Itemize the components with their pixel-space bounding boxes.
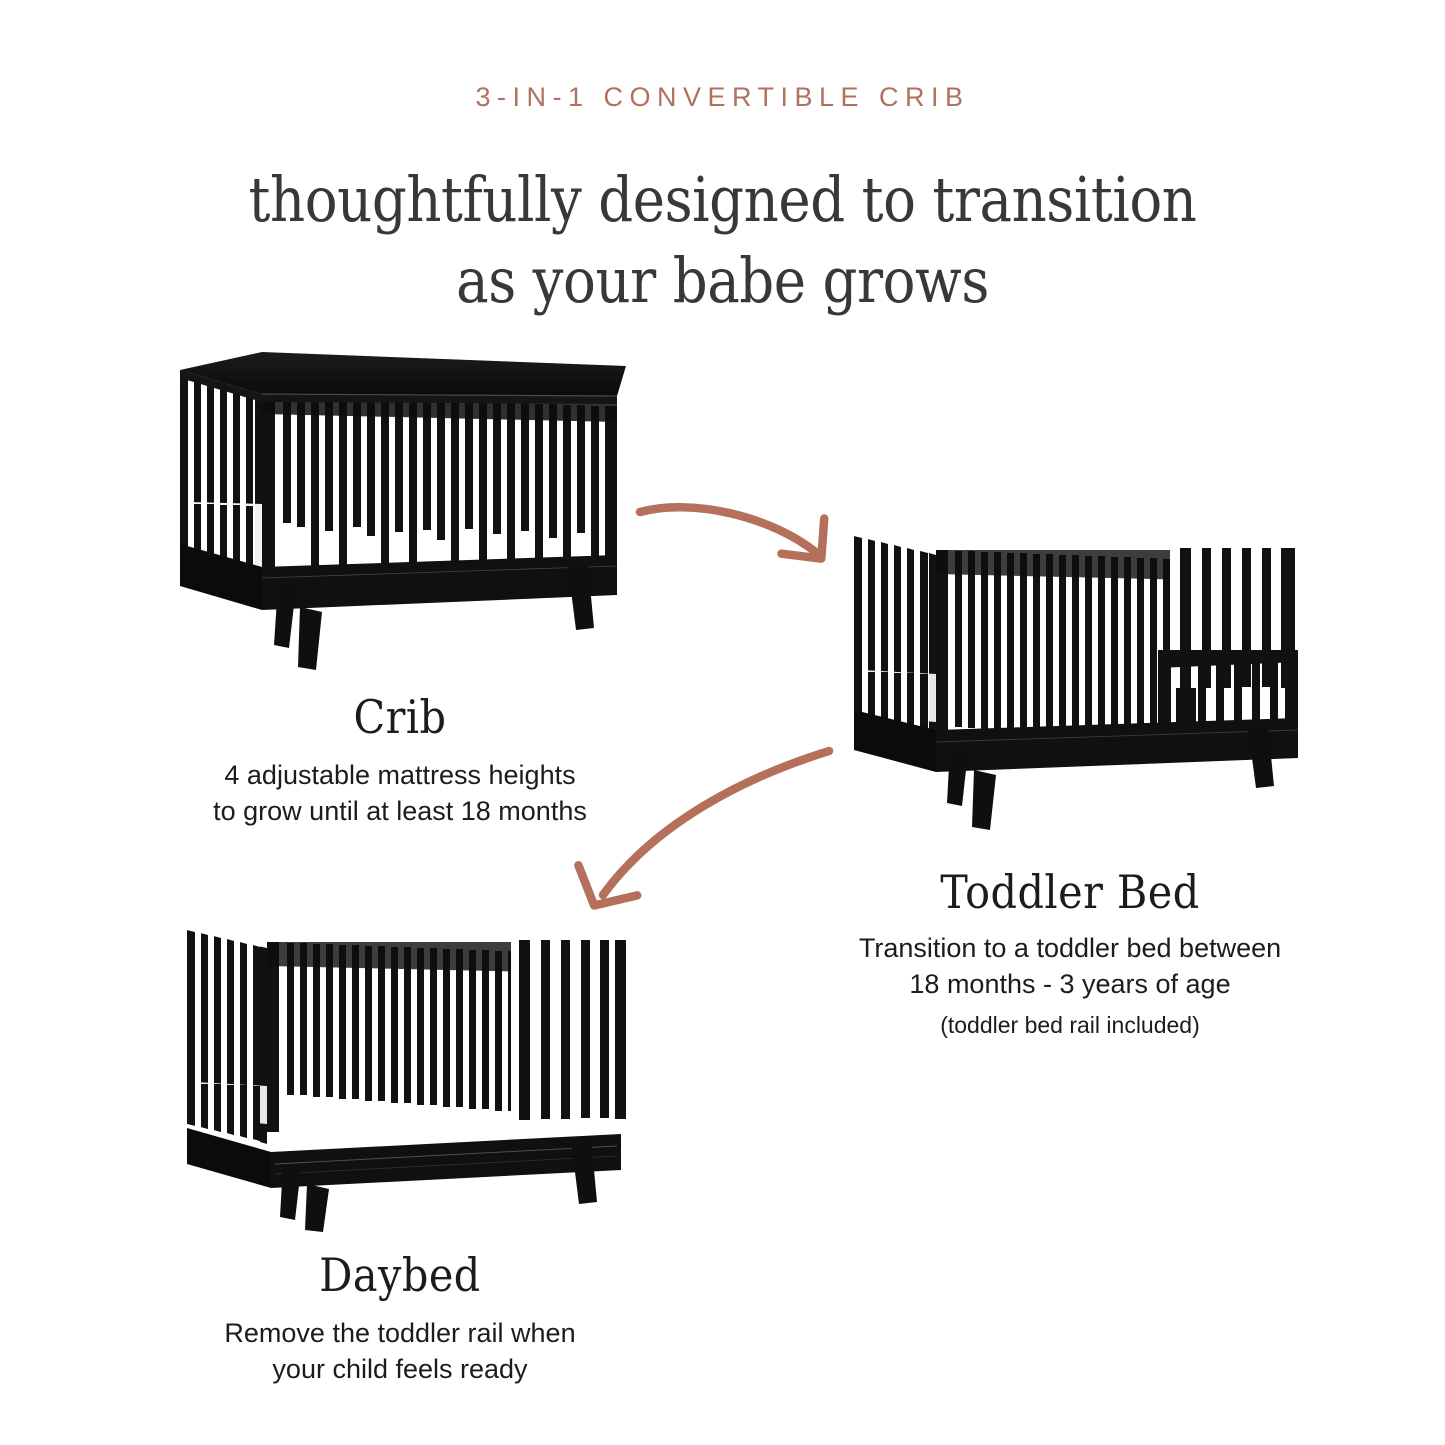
headline-line-2: as your babe grows: [87, 241, 1359, 322]
daybed-illustration: [175, 912, 630, 1232]
toddler-bed-back-slats: [936, 548, 1196, 749]
headline-line-1: thoughtfully designed to transition: [249, 163, 1197, 236]
daybed-description: Remove the toddler rail when your child …: [145, 1316, 655, 1388]
toddler-bed-description-line-1: Transition to a toddler bed between: [859, 933, 1281, 963]
crib-illustration: [170, 352, 630, 672]
daybed-description-line-1: Remove the toddler rail when: [224, 1318, 575, 1348]
toddler-bed-note: (toddler bed rail included): [790, 1011, 1350, 1041]
toddler-bed-illustration: [840, 522, 1310, 832]
toddler-bed-description: Transition to a toddler bed between 18 m…: [790, 931, 1350, 1003]
crib-top-rail: [180, 352, 626, 404]
daybed-caption-block: Daybed Remove the toddler rail when your…: [145, 1248, 655, 1388]
daybed-side-panel: [187, 930, 267, 1144]
crib-title: Crib: [166, 690, 634, 744]
toddler-bed-description-line-2: 18 months - 3 years of age: [909, 969, 1230, 999]
crib-caption-block: Crib 4 adjustable mattress heights to gr…: [140, 690, 660, 830]
daybed-description-line-2: your child feels ready: [272, 1354, 527, 1384]
daybed-far-panel: [511, 937, 627, 1120]
page-title: thoughtfully designed to transition as y…: [87, 160, 1359, 321]
eyebrow-label: 3-IN-1 CONVERTIBLE CRIB: [0, 82, 1445, 113]
crib-description: 4 adjustable mattress heights to grow un…: [140, 758, 660, 830]
infographic-page: 3-IN-1 CONVERTIBLE CRIB thoughtfully des…: [0, 0, 1445, 1445]
arrow-crib-to-toddler: [632, 488, 862, 583]
daybed-title: Daybed: [171, 1248, 630, 1302]
toddler-bed-caption-block: Toddler Bed Transition to a toddler bed …: [790, 865, 1350, 1041]
toddler-bed-title: Toddler Bed: [818, 865, 1322, 919]
crib-description-line-1: 4 adjustable mattress heights: [224, 760, 575, 790]
crib-description-line-2: to grow until at least 18 months: [213, 796, 587, 826]
daybed-back-slats: [267, 940, 537, 1132]
